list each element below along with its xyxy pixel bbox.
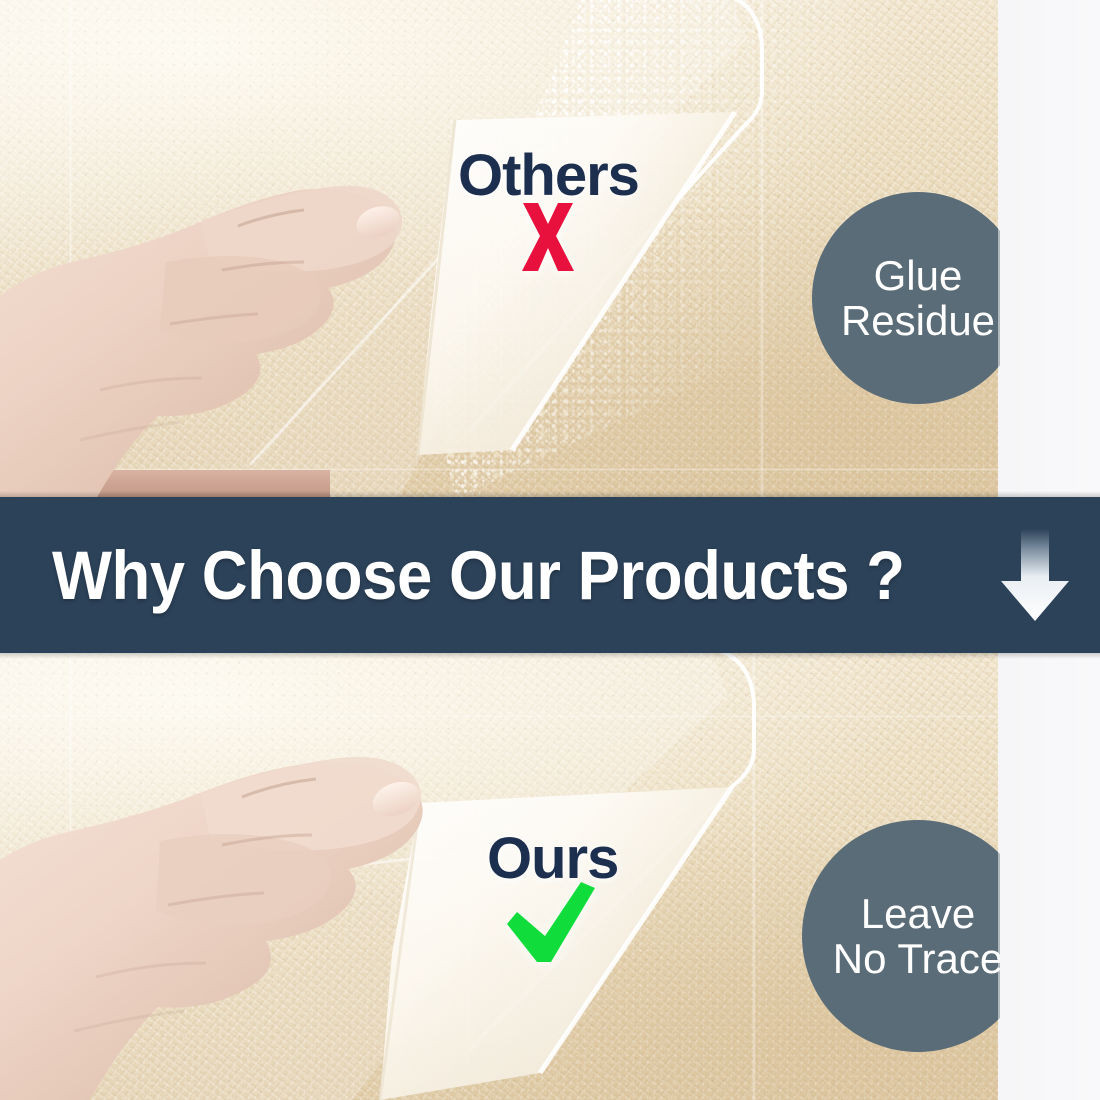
panel-ours: Ours Leave No Trace	[0, 653, 1000, 1100]
why-choose-banner: Why Choose Our Products ?	[0, 497, 1100, 653]
infographic-canvas: Others Glue Residue Why Choose Our Produ…	[0, 0, 1100, 1100]
check-mark-icon	[503, 880, 599, 966]
banner-heading: Why Choose Our Products ?	[52, 536, 905, 615]
hand-peeling-film-top	[0, 110, 450, 500]
callout-line-2: No Trace	[833, 935, 1000, 982]
label-others: Others	[458, 142, 639, 209]
hand-peeling-film-bottom	[0, 723, 480, 1100]
callout-line-2: Residue	[841, 297, 995, 344]
down-arrow-icon	[997, 527, 1073, 623]
cross-mark-icon	[518, 200, 578, 274]
callout-line-1: Glue	[874, 252, 963, 299]
panel-others: Others Glue Residue	[0, 0, 1000, 500]
callout-line-1: Leave	[861, 890, 975, 937]
